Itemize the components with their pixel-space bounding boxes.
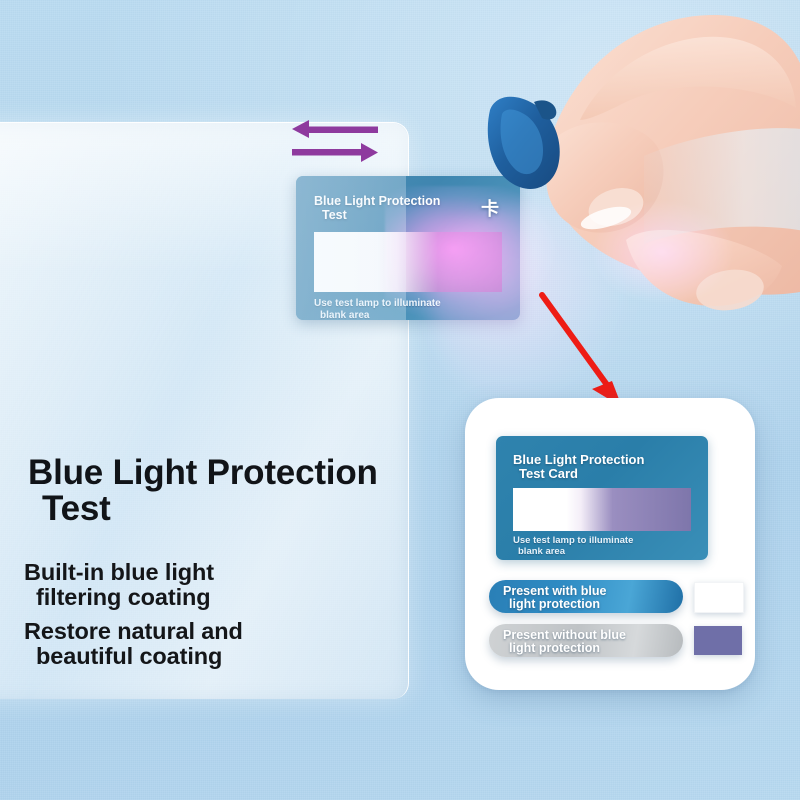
test-card-inset-gradient-strip [513,488,691,531]
arrow-right-icon [292,143,378,162]
result-inset-panel: Blue Light Protection Test Card Use test… [465,398,755,690]
legend-label-without-protection: Present without blue light protection [503,629,679,656]
swipe-arrows-svg [292,118,378,168]
test-card-inset-title: Blue Light Protection Test Card [513,453,703,482]
red-pointer-arrow-icon [530,285,630,410]
product-marketing-image: Blue Light Protection Test Use test lamp… [0,0,800,800]
test-card-top-title-line1: Blue Light Protection [314,194,440,208]
legend-swatch-purple [694,626,742,655]
test-card-inset-title-line2: Test Card [519,467,703,481]
feature-bullet-2-line2: beautiful coating [36,644,384,669]
test-card-inset-footer-line2: blank area [518,547,708,558]
feature-bullet-1-line2: filtering coating [36,585,384,610]
feature-bullet-1-line1: Built-in blue light [24,559,214,585]
legend-label-without-protection-line2: light protection [509,642,679,655]
feature-bullets: Built-in blue light filtering coating Re… [24,560,384,679]
feature-bullet-2-line1: Restore natural and [24,618,243,644]
page-title-line2: Test [42,491,428,527]
test-card-inset: Blue Light Protection Test Card Use test… [496,436,708,560]
test-card-top-footer-line1: Use test lamp to illuminate [314,298,441,309]
arrow-left-icon [292,120,378,138]
legend-label-with-protection-line1: Present with blue [503,584,607,598]
legend-row-without-protection: Present without blue light protection [489,624,739,660]
legend-swatch-white [694,582,744,613]
swipe-arrows-group [292,118,378,168]
test-card-inset-footer-line1: Use test lamp to illuminate [513,535,633,546]
legend-label-without-protection-line1: Present without blue [503,628,626,642]
uv-keychain-light-icon [488,97,560,189]
feature-bullet-2: Restore natural and beautiful coating [24,619,384,669]
legend-label-with-protection-line2: light protection [509,598,679,611]
test-card-inset-footer: Use test lamp to illuminate blank area [513,536,708,558]
legend-row-with-protection: Present with blue light protection [489,580,739,616]
red-arrow-svg [530,285,630,410]
page-title: Blue Light Protection Test [28,455,428,528]
hand-holding-icon [430,0,800,320]
test-card-inset-title-line1: Blue Light Protection [513,452,644,467]
legend-label-with-protection: Present with blue light protection [503,585,679,612]
feature-bullet-1: Built-in blue light filtering coating [24,560,384,610]
hand-svg [430,0,800,320]
page-title-line1: Blue Light Protection [28,453,378,492]
